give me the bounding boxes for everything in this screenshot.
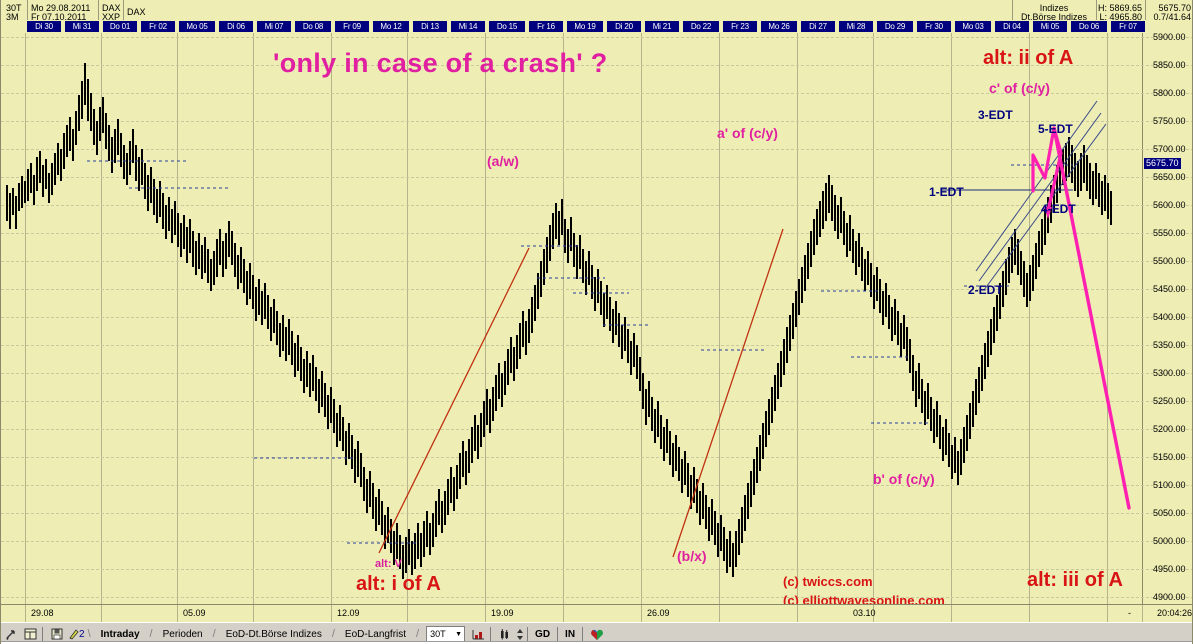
date-chip: Mo 26 [761,21,797,32]
y-tick: 5600.00 [1153,201,1186,210]
tai-pan-chart-window: 30T 3M Mo 29.08.2011 Fr 07.10.2011 DAX X… [0,0,1193,644]
grid-table-icon[interactable] [22,626,39,642]
annotation-alt-iii-of-a: alt: iii of A [1027,569,1123,592]
date-chip: Di 04 [995,21,1029,32]
annotation-alt-ii-of-a: alt: ii of A [983,47,1073,70]
annotation-b-of-cy: b' of (c/y) [873,471,935,487]
annotation-4-edt: 4-EDT [1041,202,1076,216]
date-chip: Di 27 [801,21,835,32]
annotation-alt-v: alt: V [375,558,402,570]
y-tick: 5400.00 [1153,313,1186,322]
y-tick-selected: 5675.70 [1144,158,1181,169]
date-chip: Do 22 [683,21,719,32]
date-chip: Di 20 [607,21,641,32]
chart-header: 30T 3M Mo 29.08.2011 Fr 07.10.2011 DAX X… [1,0,1193,20]
date-chip: Mo 05 [179,21,215,32]
annotation-3-edt: 3-EDT [978,108,1013,122]
candlestick-icon[interactable] [496,626,513,642]
date-chip: Mo 12 [373,21,409,32]
y-tick: 5850.00 [1153,61,1186,70]
date-chip: Fr 16 [529,21,563,32]
y-tick: 5650.00 [1153,173,1186,182]
tab-intraday[interactable]: Intraday [92,628,149,641]
chart-plot-area[interactable]: 'only in case of a crash' ? (a/w) alt: V… [1,33,1193,604]
date-chip: Mo 03 [955,21,991,32]
y-tick: 5000.00 [1153,537,1186,546]
date-chip: Mi 31 [65,21,99,32]
tab-eod-langfrist[interactable]: EoD-Langfrist [336,628,415,641]
y-tick: 5700.00 [1153,145,1186,154]
annotation-bx: (b/x) [677,548,707,564]
date-chip: Di 06 [219,21,253,32]
in-button[interactable]: IN [561,629,579,640]
color-palette-icon[interactable] [588,626,605,642]
date-chip: Fr 07 [1111,21,1145,32]
date-chip: Do 01 [103,21,137,32]
spinner-updown-icon[interactable] [515,626,524,642]
date-ribbon: Di 30 Mi 31 Do 01 Fr 02 Mo 05 Di 06 Mi 0… [1,20,1193,33]
pen-layer-count: 2 [79,629,85,640]
y-tick: 4950.00 [1153,565,1186,574]
gd-button[interactable]: GD [531,629,554,640]
copyright-elliottwavesonline: (c) elliottwavesonline.com [783,593,945,604]
date-chip: Fr 23 [723,21,757,32]
date-chip: Fr 09 [335,21,369,32]
date-chip: Do 08 [295,21,331,32]
date-chip: Mi 14 [451,21,485,32]
y-tick: 5800.00 [1153,89,1186,98]
y-tick: 5750.00 [1153,117,1186,126]
y-tick: 5150.00 [1153,453,1186,462]
y-tick: 5100.00 [1153,481,1186,490]
date-chip: Do 06 [1071,21,1107,32]
y-tick: 5350.00 [1153,341,1186,350]
tab-perioden[interactable]: Perioden [154,628,212,641]
annotation-2-edt: 2-EDT [968,283,1003,297]
date-chip: Fr 02 [141,21,175,32]
bar-chart-icon[interactable] [470,626,487,642]
y-tick: 5300.00 [1153,369,1186,378]
crosshair-pointer-icon[interactable] [3,626,20,642]
y-tick: 5250.00 [1153,397,1186,406]
annotation-c-of-cy: c' of (c/y) [989,80,1050,96]
date-chip: Fr 30 [917,21,951,32]
annotation-alt-i-of-a: alt: i of A [356,573,441,596]
annotation-a-of-cy: a' of (c/y) [717,125,778,141]
date-chip: Do 15 [489,21,525,32]
x-tick: 29.08 [31,608,54,618]
annotation-5-edt: 5-EDT [1038,122,1073,136]
date-chip: Mi 07 [257,21,291,32]
x-tick: 05.09 [183,608,206,618]
x-axis: 29.08 05.09 12.09 19.09 26.09 03.10 - 20… [1,604,1193,623]
x-tick: 26.09 [647,608,670,618]
date-chip: Di 30 [27,21,61,32]
pen-draw-icon[interactable] [67,626,79,642]
interval-select[interactable]: 30T ▼ [426,626,465,642]
y-tick: 5500.00 [1153,257,1186,266]
y-tick: 5050.00 [1153,509,1186,518]
tab-eod-dt-borse-indizes[interactable]: EoD-Dt.Börse Indizes [217,628,331,641]
x-axis-dash: - [1128,608,1131,618]
x-tick: 12.09 [337,608,360,618]
y-tick: 5450.00 [1153,285,1186,294]
date-chip: Mi 28 [839,21,873,32]
price-series [1,33,1142,604]
annotation-1-edt: 1-EDT [929,185,964,199]
date-chip: Mi 21 [645,21,679,32]
save-disk-icon[interactable] [48,626,65,642]
x-axis-time: 20:04:26 [1157,608,1192,618]
copyright-twiccs: (c) twiccs.com [783,574,873,589]
tab-divider: / [415,628,420,640]
y-tick: 5900.00 [1153,33,1186,42]
chart-title-annotation: 'only in case of a crash' ? [273,48,608,79]
date-chip: Mi 05 [1033,21,1067,32]
date-chip: Mo 19 [567,21,603,32]
date-chip: Do 29 [877,21,913,32]
x-tick: 03.10 [853,608,876,618]
x-tick: 19.09 [491,608,514,618]
y-tick: 5200.00 [1153,425,1186,434]
chevron-down-icon[interactable]: ▼ [455,631,462,638]
interval-value: 30T [430,629,452,639]
y-tick: 4900.00 [1153,593,1186,602]
header-instrument: DAX [127,7,146,17]
annotation-aw: (a/w) [487,153,519,169]
y-tick: 5550.00 [1153,229,1186,238]
date-chip: Di 13 [413,21,447,32]
